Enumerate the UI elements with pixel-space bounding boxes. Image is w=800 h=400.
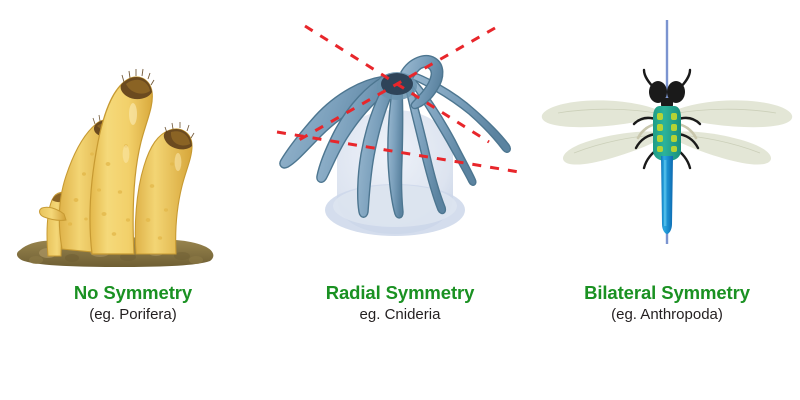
panel-subtitle-porifera: (eg. Porifera) [0,306,266,323]
panel-no-symmetry: No Symmetry (eg. Porifera) [0,0,266,400]
dragonfly-svg [534,14,800,272]
anemone-svg [267,14,533,272]
sponge-svg [0,14,266,272]
dragonfly-abdomen [661,156,673,234]
dragonfly-illustration [534,14,800,272]
panel-subtitle-cnidaria: eg. Cnideria [267,306,533,323]
panel-bilateral-symmetry: Bilateral Symmetry (eg. Anthropoda) [534,0,800,400]
panel-title-radial-symmetry: Radial Symmetry [267,282,533,304]
panel-subtitle-arthropoda: (eg. Anthropoda) [534,306,800,323]
wing-front-right [674,100,792,127]
sea-anemone-illustration [267,14,533,272]
dragonfly-thorax [653,106,681,161]
sponge-illustration [0,14,266,272]
panel-radial-symmetry: Radial Symmetry eg. Cnideria [267,0,533,400]
panel-title-bilateral-symmetry: Bilateral Symmetry [534,282,800,304]
panel-title-no-symmetry: No Symmetry [0,282,266,304]
sponge-tube-right [135,122,194,254]
symmetry-diagram: No Symmetry (eg. Porifera) [0,0,800,400]
wing-front-left [542,100,660,127]
